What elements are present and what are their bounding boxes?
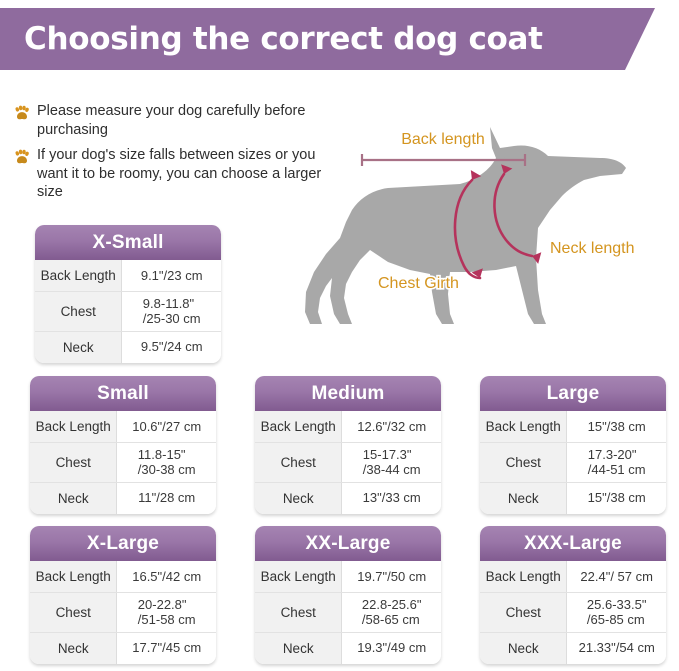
chest-girth-label: Chest Girth [378,275,459,292]
size-table-medium: Medium Back Length 12.6"/32 cm Chest 15-… [255,376,441,514]
size-name: XXX-Large [524,533,622,555]
dog-silhouette-icon [305,127,626,324]
row-value: 15"/38 cm [567,411,666,442]
row-value: 17.7"/45 cm [117,633,216,664]
row-label: Neck [30,483,117,514]
size-name: Small [97,383,149,405]
size-table-header: Small [30,376,216,411]
table-row: Back Length 19.7"/50 cm [255,561,441,593]
instruction-notes: Please measure your dog carefully before… [14,102,334,209]
row-value: 22.8-25.6" /58-65 cm [342,593,441,632]
note-text: Please measure your dog carefully before… [37,102,334,139]
row-label: Chest [480,443,567,482]
row-label: Neck [480,483,567,514]
neck-length-label: Neck length [550,240,635,257]
table-row: Neck 13"/33 cm [255,483,441,514]
paw-print-icon [14,105,30,121]
size-table-large: Large Back Length 15"/38 cm Chest 17.3-2… [480,376,666,514]
table-row: Chest 9.8-11.8" /25-30 cm [35,292,221,332]
row-value: 9.8-11.8" /25-30 cm [122,292,221,331]
size-table-header: XXX-Large [480,526,666,561]
size-table-small: Small Back Length 10.6"/27 cm Chest 11.8… [30,376,216,514]
row-value: 17.3-20" /44-51 cm [567,443,666,482]
size-table-xxx-large: XXX-Large Back Length 22.4"/ 57 cm Chest… [480,526,666,664]
dog-measurement-diagram: Back length Neck length Chest Girth [300,118,679,343]
row-label: Neck [255,633,342,664]
row-value: 9.5"/24 cm [122,332,221,363]
size-table-header: Medium [255,376,441,411]
size-table-x-small: X-Small Back Length 9.1"/23 cm Chest 9.8… [35,225,221,363]
table-row: Chest 15-17.3" /38-44 cm [255,443,441,483]
table-row: Chest 20-22.8" /51-58 cm [30,593,216,633]
table-row: Back Length 22.4"/ 57 cm [480,561,666,593]
table-row: Back Length 15"/38 cm [480,411,666,443]
paw-print-icon [14,149,30,165]
row-label: Back Length [255,411,342,442]
note-text: If your dog's size falls between sizes o… [37,146,334,202]
size-name: XX-Large [305,533,390,555]
row-label: Back Length [30,561,117,592]
table-row: Neck 17.7"/45 cm [30,633,216,664]
note-item: If your dog's size falls between sizes o… [14,146,334,202]
row-label: Neck [255,483,342,514]
size-table-x-large: X-Large Back Length 16.5"/42 cm Chest 20… [30,526,216,664]
row-value: 10.6"/27 cm [117,411,216,442]
size-name: Medium [312,383,385,405]
table-row: Chest 17.3-20" /44-51 cm [480,443,666,483]
size-table-header: Large [480,376,666,411]
row-value: 21.33"/54 cm [567,633,666,664]
row-label: Chest [255,443,342,482]
row-label: Chest [30,443,117,482]
row-label: Chest [480,593,567,632]
row-label: Neck [480,633,567,664]
row-value: 13"/33 cm [342,483,441,514]
row-label: Back Length [480,411,567,442]
table-row: Back Length 16.5"/42 cm [30,561,216,593]
size-name: X-Small [92,232,163,254]
row-label: Back Length [480,561,567,592]
size-table-header: X-Large [30,526,216,561]
row-value: 12.6"/32 cm [342,411,441,442]
row-label: Neck [30,633,117,664]
header-banner: Choosing the correct dog coat [0,8,655,70]
table-row: Chest 22.8-25.6" /58-65 cm [255,593,441,633]
size-name: Large [547,383,600,405]
row-value: 19.3"/49 cm [342,633,441,664]
row-label: Chest [255,593,342,632]
size-table-header: XX-Large [255,526,441,561]
row-value: 11"/28 cm [117,483,216,514]
row-label: Chest [35,292,122,331]
back-length-label: Back length [401,131,485,148]
row-label: Neck [35,332,122,363]
row-label: Back Length [30,411,117,442]
row-value: 16.5"/42 cm [117,561,216,592]
table-row: Back Length 9.1"/23 cm [35,260,221,292]
table-row: Back Length 10.6"/27 cm [30,411,216,443]
row-value: 15"/38 cm [567,483,666,514]
row-value: 20-22.8" /51-58 cm [117,593,216,632]
row-label: Back Length [35,260,122,291]
row-value: 25.6-33.5" /65-85 cm [567,593,666,632]
table-row: Chest 11.8-15" /30-38 cm [30,443,216,483]
size-table-header: X-Small [35,225,221,260]
size-name: X-Large [87,533,159,555]
row-value: 19.7"/50 cm [342,561,441,592]
row-value: 11.8-15" /30-38 cm [117,443,216,482]
row-label: Back Length [255,561,342,592]
row-value: 22.4"/ 57 cm [567,561,666,592]
table-row: Neck 21.33"/54 cm [480,633,666,664]
table-row: Back Length 12.6"/32 cm [255,411,441,443]
table-row: Neck 15"/38 cm [480,483,666,514]
table-row: Neck 9.5"/24 cm [35,332,221,363]
note-item: Please measure your dog carefully before… [14,102,334,139]
table-row: Chest 25.6-33.5" /65-85 cm [480,593,666,633]
table-row: Neck 11"/28 cm [30,483,216,514]
row-value: 15-17.3" /38-44 cm [342,443,441,482]
size-table-xx-large: XX-Large Back Length 19.7"/50 cm Chest 2… [255,526,441,664]
table-row: Neck 19.3"/49 cm [255,633,441,664]
page-title: Choosing the correct dog coat [24,21,543,57]
row-label: Chest [30,593,117,632]
row-value: 9.1"/23 cm [122,260,221,291]
